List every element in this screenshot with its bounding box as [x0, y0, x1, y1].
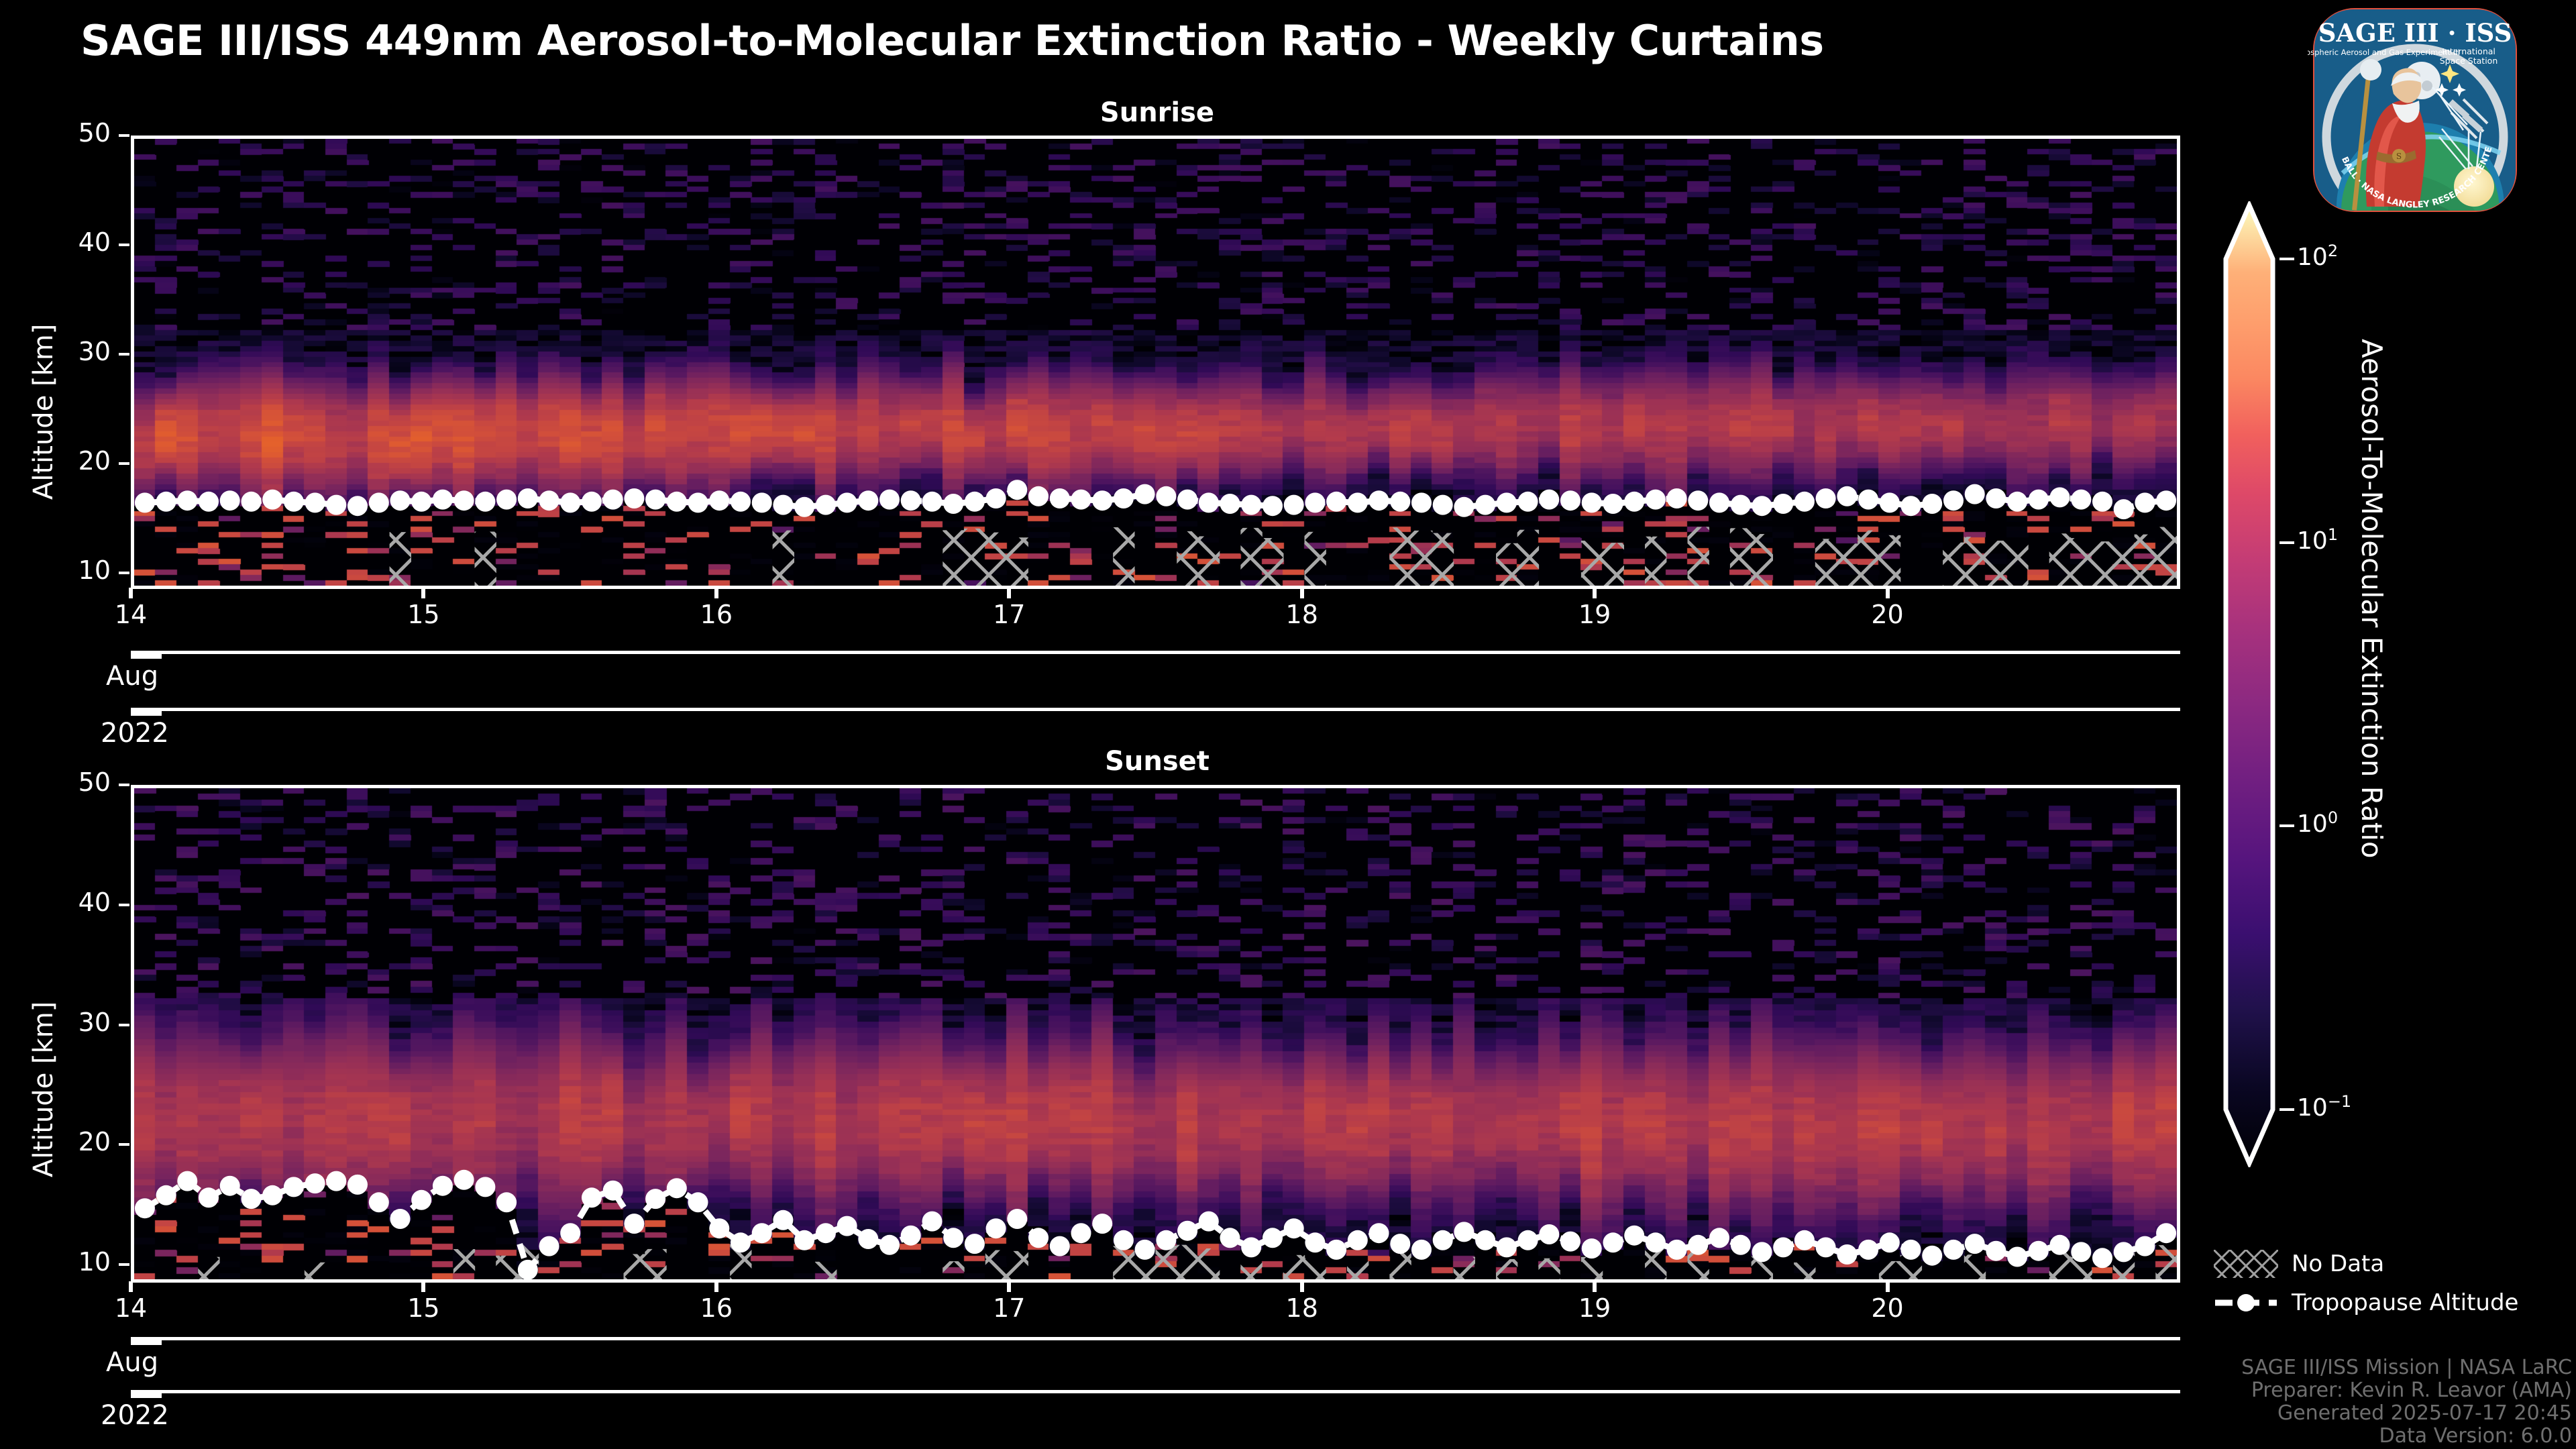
tropopause-altitude-marker [1603, 1232, 1623, 1252]
tropopause-altitude-marker [858, 490, 878, 511]
no-data-hatch-cell [2049, 533, 2071, 586]
no-data-hatch-cell [1581, 1257, 1603, 1279]
tropopause-altitude-marker [837, 1216, 857, 1236]
sunset-y-tick-label: 20 [37, 1127, 111, 1157]
tropopause-altitude-marker [1709, 492, 1729, 513]
tropopause-altitude-marker [922, 1212, 943, 1232]
tropopause-altitude-marker [1305, 492, 1325, 513]
tropopause-altitude-marker [2092, 492, 2112, 512]
tropopause-altitude-marker [560, 492, 580, 513]
no-data-hatch-cell [1177, 1245, 1198, 1279]
no-data-hatch-cell [1964, 537, 1986, 586]
sunrise-x-tick-mark [714, 588, 718, 598]
sunset-y-tick-label: 10 [37, 1247, 111, 1277]
colorbar-tick-label: 102 [2297, 241, 2338, 271]
tropopause-altitude-marker [241, 492, 262, 512]
tropopause-altitude-marker [347, 496, 368, 516]
no-data-hatch-cell [1645, 537, 1666, 586]
tropopause-altitude-marker [347, 1175, 368, 1195]
tropopause-altitude-marker [1880, 492, 1900, 513]
no-data-hatch-cell [1879, 1261, 1900, 1279]
sunrise-y-tick-mark [119, 244, 129, 246]
tropopause-altitude-marker [220, 490, 240, 511]
tropopause-altitude-marker [645, 490, 665, 510]
sunrise-x-tick-mark [421, 588, 425, 598]
tropopause-altitude-marker [2156, 1223, 2176, 1243]
tropopause-altitude-marker [2007, 1247, 2027, 1267]
colorbar-tick-mark [2279, 824, 2294, 827]
tropopause-altitude-marker [433, 1176, 453, 1196]
no-data-hatch-cell [1837, 543, 1858, 586]
sunset-year-rule-nub [131, 1390, 162, 1398]
sunset-y-tick-label: 50 [37, 767, 111, 797]
tropopause-altitude-marker [901, 490, 921, 511]
no-data-hatch-cell [2092, 541, 2113, 586]
tropopause-altitude-marker [135, 1198, 155, 1218]
no-data-hatch-cell [1198, 1248, 1220, 1279]
tropopause-altitude-marker [1114, 488, 1134, 508]
colorbar-tick-mark [2279, 258, 2294, 260]
sunset-x-tick-label: 17 [969, 1293, 1049, 1323]
sunrise-heatmap-plot[interactable] [131, 136, 2180, 589]
no-data-hatch-cell [624, 1254, 645, 1279]
tropopause-altitude-marker [1454, 497, 1474, 517]
tropopause-altitude-marker [539, 1236, 559, 1256]
sunset-y-tick-label: 30 [37, 1008, 111, 1037]
sunset-x-tick-label: 16 [676, 1293, 757, 1323]
no-data-hatch-cell [198, 1257, 219, 1279]
no-data-hatch-cell [943, 530, 964, 586]
sunset-x-tick-mark [714, 1281, 718, 1292]
legend-item-no-data[interactable]: No Data [2214, 1244, 2576, 1283]
tropopause-altitude-marker [2050, 1235, 2070, 1255]
no-data-hatch-cell [1389, 527, 1411, 586]
tropopause-altitude-marker [518, 1260, 538, 1279]
tropopause-altitude-marker [475, 492, 495, 512]
tropopause-altitude-marker [2071, 1242, 2091, 1262]
no-data-hatch-cell [496, 1256, 517, 1279]
colorbar-tick-label: 100 [2297, 808, 2338, 838]
tropopause-altitude-marker [411, 492, 431, 512]
colorbar-tick-label: 10−1 [2297, 1092, 2351, 1122]
tropopause-altitude-marker [731, 1232, 751, 1252]
sunset-y-tick-mark [119, 1263, 129, 1266]
no-data-hatch-cell [1964, 1254, 1986, 1279]
tropopause-altitude-marker [2029, 1241, 2049, 1261]
tropopause-altitude-marker [1943, 490, 1964, 511]
no-data-hatch-cell [2155, 527, 2177, 586]
sunrise-x-tick-mark [129, 588, 133, 598]
tropopause-altitude-marker [1092, 490, 1112, 511]
tropopause-altitude-marker [241, 1189, 262, 1209]
tropopause-altitude-marker [1752, 496, 1772, 516]
sunset-x-tick-mark [1593, 1281, 1597, 1292]
tropopause-altitude-marker [518, 488, 538, 508]
sunrise-x-tick-label: 20 [1847, 600, 1928, 629]
tropopause-altitude-marker [496, 490, 517, 510]
sunset-year-label: 2022 [101, 1400, 169, 1431]
no-data-hatch-icon [2214, 1250, 2278, 1278]
tropopause-altitude-marker [1028, 486, 1049, 506]
tropopause-altitude-marker [1369, 490, 1389, 511]
tropopause-altitude-marker [1284, 495, 1304, 515]
tropopause-altitude-marker [1326, 1240, 1346, 1260]
tropopause-altitude-marker [1071, 1223, 1091, 1243]
no-data-hatch-cell [1198, 536, 1220, 586]
tropopause-altitude-marker [305, 492, 325, 513]
sunset-month-rule-nub [131, 1337, 162, 1345]
no-data-hatch-cell [1156, 1246, 1177, 1279]
no-data-hatch-cell [1113, 527, 1134, 586]
tropopause-altitude-marker [1348, 492, 1368, 513]
sunrise-panel-title: Sunrise [131, 97, 2184, 128]
tropopause-altitude-marker [1305, 1232, 1325, 1252]
tropopause-altitude-marker [816, 495, 836, 515]
sunset-heatmap-plot[interactable] [131, 785, 2180, 1283]
tropopause-altitude-marker [752, 1223, 772, 1243]
tropopause-altitude-marker [1922, 494, 1942, 514]
tropopause-altitude-marker [326, 495, 346, 515]
tropopause-altitude-marker [1922, 1246, 1942, 1266]
tropopause-altitude-marker [1411, 1240, 1432, 1260]
sunset-y-tick-mark [119, 904, 129, 906]
tropopause-altitude-marker [1050, 1236, 1070, 1256]
colorbar-tick-mark [2279, 1108, 2294, 1111]
tropopause-altitude-marker [454, 1170, 474, 1190]
no-data-hatch-cell [1794, 1263, 1815, 1279]
figure-canvas: SAGE III/ISS 449nm Aerosol-to-Molecular … [0, 0, 2576, 1449]
tropopause-altitude-marker [901, 1226, 921, 1246]
sunrise-y-tick-label: 10 [37, 555, 111, 585]
sunrise-y-tick-mark [119, 353, 129, 356]
tropopause-altitude-marker [986, 1218, 1006, 1238]
tropopause-altitude-marker [688, 492, 708, 513]
sunrise-x-tick-label: 15 [383, 600, 464, 629]
tropopause-altitude-marker [1475, 495, 1495, 515]
no-data-hatch-cell [815, 1262, 837, 1279]
tropopause-altitude-marker [1433, 495, 1453, 515]
sunset-x-tick-mark [421, 1281, 425, 1292]
tropopause-altitude-marker [1709, 1228, 1729, 1248]
tropopause-altitude-marker [1731, 1235, 1751, 1255]
tropopause-altitude-marker [1114, 1230, 1134, 1250]
sunrise-overlay-layer [134, 139, 2177, 586]
tropopause-altitude-marker [752, 492, 772, 513]
sunrise-year-label: 2022 [101, 718, 169, 749]
footer-line-preparer: Preparer: Kevin R. Leavor (AMA) [2143, 1379, 2572, 1402]
tropopause-altitude-marker [879, 490, 900, 510]
sunset-y-tick-mark [119, 1143, 129, 1146]
tropopause-altitude-marker [2135, 1236, 2155, 1256]
svg-text:Space Station: Space Station [2440, 56, 2498, 66]
legend: No Data Tropopause Altitude [2214, 1244, 2576, 1322]
sunset-panel-title: Sunset [131, 746, 2184, 777]
tropopause-altitude-marker [2135, 492, 2155, 513]
no-data-hatch-cell [1730, 528, 1752, 586]
no-data-hatch-cell [1432, 533, 1454, 586]
tropopause-altitude-marker [1858, 490, 1878, 510]
tropopause-altitude-marker [1241, 1237, 1261, 1257]
sunset-x-tick-mark [1007, 1281, 1011, 1292]
sunset-month-rule [131, 1337, 2180, 1340]
tropopause-altitude-marker [582, 1187, 602, 1207]
sunrise-month-rule [131, 651, 2180, 654]
sunset-year-rule [131, 1390, 2180, 1393]
tropopause-altitude-marker [1497, 1237, 1517, 1257]
tropopause-altitude-marker [1901, 1240, 1921, 1260]
tropopause-altitude-marker [624, 488, 644, 508]
tropopause-altitude-marker [199, 1187, 219, 1207]
svg-text:SAGE III · ISS: SAGE III · ISS [2318, 18, 2512, 48]
tropopause-altitude-marker [773, 495, 793, 515]
tropopause-altitude-marker [1667, 1240, 1687, 1260]
tropopause-altitude-marker [1582, 492, 1602, 513]
no-data-hatch-cell [1347, 1261, 1368, 1279]
sunset-x-tick-label: 20 [1847, 1293, 1928, 1323]
no-data-hatch-cell [1411, 531, 1432, 586]
tropopause-altitude-marker [922, 492, 943, 512]
tropopause-altitude-marker [1390, 1234, 1410, 1254]
tropopause-altitude-marker [390, 1209, 411, 1229]
tropopause-altitude-marker [1518, 1230, 1538, 1250]
tropopause-altitude-marker [2050, 487, 2070, 507]
no-data-hatch-cell [2006, 537, 2028, 586]
sunset-month-label: Aug [106, 1347, 158, 1378]
tropopause-altitude-marker [1007, 1209, 1027, 1229]
tropopause-altitude-marker [1986, 488, 2006, 508]
tropopause-altitude-marker [1199, 492, 1219, 513]
tropopause-altitude-marker [603, 1181, 623, 1201]
no-data-hatch-cell [1752, 534, 1773, 586]
no-data-hatch-cell [2070, 538, 2092, 586]
tropopause-altitude-marker [1135, 1240, 1155, 1260]
sunrise-y-tick-mark [119, 462, 129, 465]
tropopause-altitude-marker [284, 1177, 304, 1197]
sunset-y-tick-label: 40 [37, 888, 111, 917]
tropopause-altitude-marker [1582, 1238, 1602, 1258]
tropopause-altitude-marker [1880, 1232, 1900, 1252]
tropopause-altitude-marker [1177, 490, 1197, 510]
tropopause-altitude-marker [411, 1190, 431, 1210]
colorbar-tick-label: 101 [2297, 525, 2338, 555]
tropopause-altitude-marker [837, 492, 857, 513]
tropopause-altitude-marker [1688, 1235, 1708, 1255]
tropopause-altitude-marker [1731, 495, 1751, 515]
tropopause-altitude-marker [496, 1192, 517, 1212]
no-data-hatch-cell [2155, 1245, 2177, 1279]
svg-text:S: S [2396, 152, 2402, 161]
page-title: SAGE III/ISS 449nm Aerosol-to-Molecular … [80, 16, 1824, 65]
tropopause-altitude-marker [1199, 1212, 1219, 1232]
no-data-hatch-cell [1538, 1258, 1560, 1279]
tropopause-altitude-marker [1646, 1232, 1666, 1252]
tropopause-altitude-marker [1050, 488, 1070, 508]
tropopause-altitude-marker [1816, 1237, 1836, 1257]
no-data-hatch-cell [1815, 539, 1837, 586]
no-data-hatch-cell [1177, 531, 1198, 586]
tropopause-altitude-marker [1220, 494, 1240, 514]
tropopause-altitude-marker [369, 492, 389, 513]
tropopause-altitude-marker [326, 1171, 346, 1191]
sunrise-y-tick-label: 20 [37, 446, 111, 476]
no-data-hatch-cell [943, 1261, 964, 1279]
tropopause-altitude-marker [1433, 1230, 1453, 1250]
tropopause-altitude-marker [2114, 1242, 2134, 1262]
sunrise-y-tick-label: 50 [37, 118, 111, 148]
tropopause-altitude-marker [1773, 494, 1793, 514]
no-data-hatch-cell [1858, 531, 1879, 586]
tropopause-altitude-marker [1284, 1218, 1304, 1238]
sunset-x-tick-mark [1886, 1281, 1890, 1292]
tropopause-altitude-marker [688, 1192, 708, 1212]
tropopause-altitude-marker [667, 1178, 687, 1198]
sunset-x-tick-label: 14 [91, 1293, 171, 1323]
tropopause-altitude-marker [943, 494, 963, 514]
tropopause-altitude-marker [1518, 492, 1538, 512]
tropopause-altitude-marker [1773, 1237, 1793, 1257]
tropopause-altitude-marker [539, 490, 559, 511]
footer-credits: SAGE III/ISS Mission | NASA LaRC Prepare… [2143, 1356, 2572, 1448]
tropopause-altitude-marker [177, 1171, 197, 1191]
no-data-hatch-cell [985, 1250, 1007, 1280]
no-data-hatch-cell [390, 532, 411, 586]
tropopause-altitude-marker [1156, 486, 1176, 506]
tropopause-altitude-marker [794, 1230, 814, 1250]
tropopause-altitude-marker [433, 490, 453, 510]
no-data-hatch-cell [1581, 541, 1603, 586]
no-data-hatch-cell [964, 529, 985, 586]
tropopause-altitude-marker [858, 1229, 878, 1249]
no-data-hatch-cell [305, 1263, 326, 1279]
tropopause-altitude-marker [1241, 495, 1261, 515]
tropopause-altitude-marker [305, 1173, 325, 1193]
tropopause-altitude-marker [390, 490, 411, 511]
tropopause-altitude-marker [794, 497, 814, 517]
tropopause-altitude-marker [1156, 1230, 1176, 1250]
tropopause-altitude-marker [1837, 486, 1857, 506]
sunrise-x-tick-mark [1593, 588, 1597, 598]
tropopause-altitude-marker [1348, 1230, 1368, 1250]
no-data-hatch-cell [475, 532, 496, 586]
no-data-hatch-cell [1688, 527, 1709, 586]
tropopause-altitude-marker [986, 488, 1006, 508]
no-data-hatch-cell [1007, 1251, 1028, 1279]
no-data-hatch-cell [453, 1249, 475, 1279]
tropopause-altitude-marker [1539, 490, 1559, 510]
tropopause-altitude-marker [1220, 1228, 1240, 1248]
legend-item-tropopause-altitude[interactable]: Tropopause Altitude [2214, 1283, 2576, 1322]
tropopause-altitude-marker [369, 1192, 389, 1212]
tropopause-altitude-marker [135, 492, 155, 513]
sunrise-x-tick-label: 14 [91, 600, 171, 629]
tropopause-altitude-marker [2092, 1248, 2112, 1268]
tropopause-altitude-marker [284, 492, 304, 512]
tropopause-altitude-marker [2156, 490, 2176, 511]
sunrise-x-tick-label: 17 [969, 600, 1049, 629]
sunrise-x-tick-mark [1886, 588, 1890, 598]
tropopause-altitude-marker [1965, 484, 1985, 504]
colorbar-axis-label: Aerosol-To-Molecular Extinction Ratio [2355, 339, 2388, 859]
no-data-hatch-cell [2113, 541, 2135, 586]
sunset-x-tick-label: 15 [383, 1293, 464, 1323]
tropopause-line-marker-icon [2214, 1289, 2278, 1317]
sunset-x-tick-label: 18 [1262, 1293, 1342, 1323]
tropopause-altitude-marker [1624, 1226, 1644, 1246]
tropopause-altitude-marker [1390, 492, 1410, 512]
sage-iii-iss-mission-patch-logo: S BALL · NASA LANGLEY RESEARCH CENTER · … [2308, 5, 2522, 220]
tropopause-altitude-marker [1603, 494, 1623, 514]
tropopause-altitude-marker [943, 1228, 963, 1248]
tropopause-altitude-marker [1646, 490, 1666, 510]
tropopause-altitude-marker [1326, 492, 1346, 512]
tropopause-altitude-marker [709, 1218, 729, 1238]
no-data-hatch-cell [1496, 543, 1517, 586]
sunset-x-tick-mark [1300, 1281, 1304, 1292]
footer-line-generated: Generated 2025-07-17 20:45 [2143, 1402, 2572, 1425]
no-data-hatch-cell [1986, 541, 2007, 586]
no-data-hatch-cell [1454, 1257, 1475, 1279]
tropopause-altitude-marker [879, 1235, 900, 1255]
tropopause-altitude-marker [1752, 1242, 1772, 1262]
colorbar[interactable] [2220, 201, 2278, 1167]
sunrise-y-tick-mark [119, 572, 129, 574]
sunrise-x-tick-label: 16 [676, 600, 757, 629]
tropopause-altitude-marker [156, 492, 176, 512]
tropopause-altitude-marker [1624, 492, 1644, 512]
tropopause-altitude-marker [2114, 499, 2134, 519]
tropopause-altitude-marker [1497, 492, 1517, 513]
tropopause-altitude-marker [1837, 1244, 1857, 1265]
tropopause-altitude-marker [1794, 1230, 1815, 1250]
tropopause-altitude-marker [816, 1223, 836, 1243]
svg-text:International: International [2442, 46, 2495, 56]
sunset-y-tick-mark [119, 784, 129, 786]
tropopause-altitude-marker [709, 490, 729, 511]
sunrise-y-tick-label: 30 [37, 337, 111, 366]
no-data-hatch-cell [1305, 1258, 1326, 1279]
no-data-hatch-cell [1240, 1256, 1262, 1279]
tropopause-altitude-marker [560, 1223, 580, 1243]
tropopause-altitude-marker [1263, 1228, 1283, 1248]
tropopause-altitude-marker [2029, 490, 2049, 510]
tropopause-altitude-marker [1794, 492, 1815, 512]
tropopause-altitude-marker [667, 492, 687, 512]
tropopause-altitude-marker [1475, 1230, 1495, 1250]
no-data-hatch-cell [1305, 532, 1326, 586]
tropopause-altitude-marker [1858, 1240, 1878, 1260]
no-data-hatch-cell [645, 1249, 666, 1279]
tropopause-altitude-marker [624, 1214, 644, 1234]
tropopause-altitude-marker [1816, 488, 1836, 508]
tropopause-altitude-marker [262, 490, 282, 510]
sunrise-year-rule-nub [131, 708, 162, 716]
footer-line-data-version: Data Version: 6.0.0 [2143, 1425, 2572, 1448]
tropopause-altitude-marker [475, 1177, 495, 1197]
legend-label-tropopause-altitude: Tropopause Altitude [2292, 1289, 2518, 1316]
svg-text:Stratospheric Aerosol and Gas: Stratospheric Aerosol and Gas Experiment… [2308, 48, 2460, 57]
tropopause-altitude-marker [1688, 490, 1708, 511]
tropopause-altitude-marker [965, 492, 985, 512]
sunset-x-tick-mark [129, 1281, 133, 1292]
no-data-hatch-cell [1603, 543, 1624, 586]
no-data-hatch-cell [1262, 538, 1283, 586]
tropopause-altitude-marker [1369, 1223, 1389, 1243]
tropopause-altitude-marker [454, 490, 474, 511]
tropopause-altitude-marker [220, 1176, 240, 1196]
no-data-hatch-cell [1517, 530, 1539, 586]
sunrise-x-tick-label: 18 [1262, 600, 1342, 629]
tropopause-altitude-marker [1667, 488, 1687, 508]
